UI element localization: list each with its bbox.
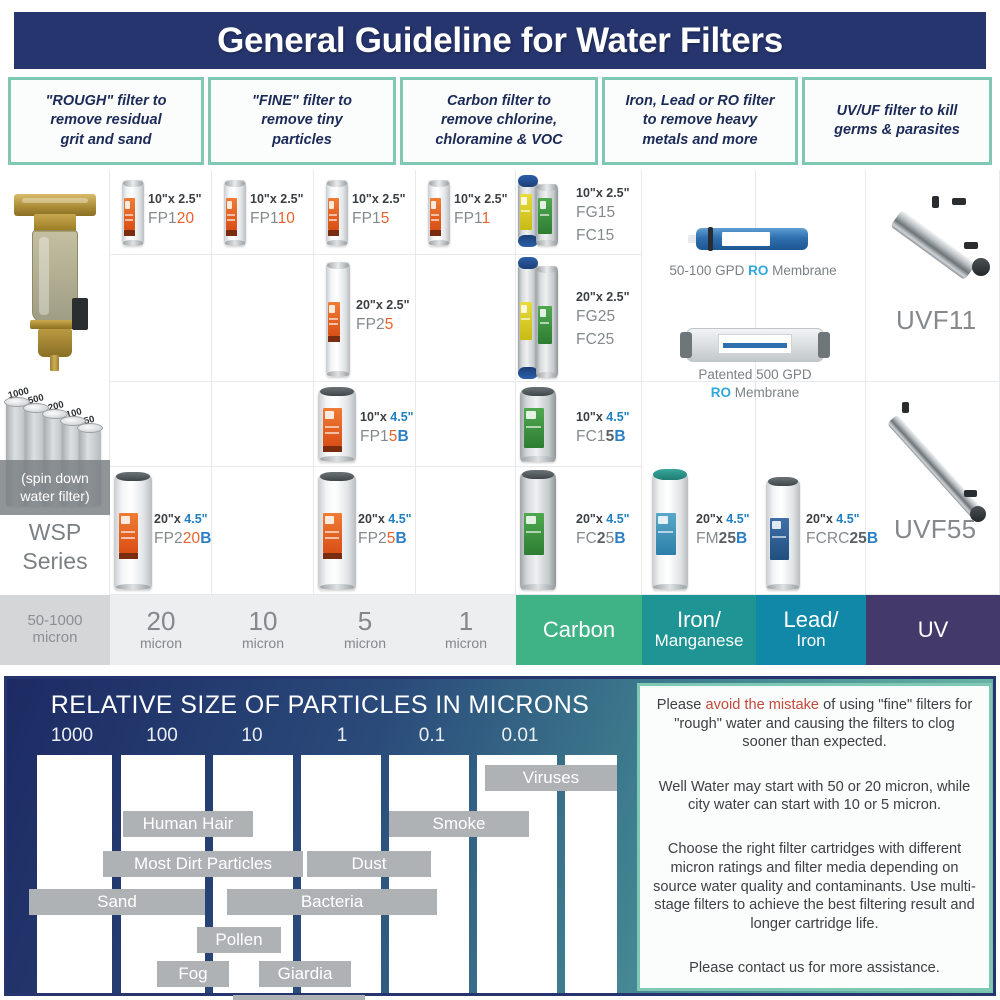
page-title-bar: General Guideline for Water Filters — [14, 12, 986, 69]
grid-cell-1micron-r4 — [416, 467, 516, 595]
particle-bar-fog: Fog — [157, 961, 229, 987]
cartridge-code: FCRC25B — [806, 528, 878, 550]
micron-value: 10 — [249, 608, 278, 635]
housing-spout — [50, 355, 59, 371]
grid-cell-10micron-r4 — [212, 467, 314, 595]
grid-cell-1micron-r2 — [416, 255, 516, 382]
uv-name-uvf55: UVF55 — [894, 514, 976, 545]
flush-valve — [72, 298, 88, 330]
particle-bar-viruses: Viruses — [485, 765, 617, 791]
micron-value: 50-1000 — [27, 613, 82, 629]
note-paragraph: Please avoid the mistake of using "fine"… — [652, 696, 977, 752]
micron-unit: micron — [344, 635, 386, 652]
infographic-page: General Guideline for Water Filters "ROU… — [0, 0, 1000, 1000]
cartridge-fp110-image — [224, 180, 246, 246]
header-box-iron-lead-ro: Iron, Lead or RO filter to remove heavy … — [602, 77, 798, 165]
cartridge-fc25b-image — [520, 473, 556, 590]
micron-cell-20: 20 micron — [110, 595, 212, 665]
particle-bar-giardia: Giardia — [259, 961, 351, 987]
cartridge-fp120-image — [122, 180, 144, 246]
tick-label: 0.01 — [483, 725, 557, 747]
uv-unit-uvf11-image — [890, 190, 990, 290]
spin-down-caption: (spin down water filter) — [0, 460, 110, 515]
cartridge-code: FP15B — [360, 426, 414, 448]
cartridge-code: FP15 — [352, 208, 406, 230]
cartridge-code: FM25B — [696, 528, 750, 550]
particle-bar-bacteria: Bacteria — [227, 889, 437, 915]
caption-line: water filter) — [20, 488, 89, 506]
label-fcrc25b: 20"x 4.5" FCRC25B — [806, 510, 878, 551]
cartridge-dimension: 20"x 2.5" — [576, 288, 630, 306]
label-fp15: 10"x 2.5" FP15 — [352, 190, 406, 231]
cartridge-code: FP25 — [356, 314, 410, 336]
micron-value: UV — [918, 618, 949, 641]
cartridge-fc15b-image — [520, 390, 556, 462]
cartridge-dimension: 10"x 2.5" — [250, 190, 304, 208]
label-fp25: 20"x 2.5" FP25 — [356, 296, 410, 337]
micron-cell-iron-manganese: Iron/ Manganese — [642, 595, 756, 665]
grid-cell-20micron-r3 — [110, 382, 212, 467]
label-fp220b: 20"x 4.5" FP220B — [154, 510, 211, 551]
micron-unit: micron — [242, 635, 284, 652]
grid-cell-10micron-r2 — [212, 255, 314, 382]
cartridge-dimension: 10"x 2.5" — [148, 190, 202, 208]
cartridge-dimension: 20"x 4.5" — [576, 510, 630, 528]
header-line: metals and more — [625, 131, 774, 150]
cartridge-fm25b-image — [652, 473, 688, 590]
particle-bar-pollen: Pollen — [197, 927, 281, 953]
cartridge-fc25-image — [536, 266, 558, 378]
label-carbon-r1: 10"x 2.5" FG15 FC15 — [576, 184, 630, 247]
cartridge-code: FC15B — [576, 426, 630, 448]
label-fp11: 10"x 2.5" FP11 — [454, 190, 508, 231]
label-fc25b: 20"x 4.5" FC25B — [576, 510, 630, 551]
cartridge-dimension: 20"x 4.5" — [696, 510, 750, 528]
micron-value: 20 — [147, 608, 176, 635]
cartridge-fp11-image — [428, 180, 450, 246]
cartridge-fg15-image — [518, 180, 538, 242]
micron-cell-1: 1 micron — [416, 595, 516, 665]
header-line: Carbon filter to — [435, 92, 562, 111]
cartridge-code: FC25 — [576, 329, 630, 351]
cartridge-dimension: 20"x 4.5" — [806, 510, 878, 528]
cartridge-fp15-image — [326, 180, 348, 246]
particle-bar-most-dirt: Most Dirt Particles — [103, 851, 303, 877]
product-grid: 1000 500 200 100 50 (spin down water fil… — [0, 170, 1000, 595]
cartridge-dimension: 10"x 2.5" — [454, 190, 508, 208]
micron-value: Iron/ — [677, 608, 721, 631]
header-box-fine: "FINE" filter to remove tiny particles — [208, 77, 396, 165]
cartridge-dimension: 10"x 2.5" — [576, 184, 630, 202]
tick-label: 0.1 — [395, 725, 469, 747]
cartridge-code: FC25B — [576, 528, 630, 550]
micron-unit: micron — [140, 635, 182, 652]
grid-cell-20micron-r2 — [110, 255, 212, 382]
cartridge-dimension: 20"x 4.5" — [154, 510, 211, 528]
cartridge-code: FG15 — [576, 202, 630, 224]
cartridge-fp220b-image — [114, 475, 152, 590]
caption-line: RO Membrane — [660, 384, 850, 402]
cartridge-code: FP220B — [154, 528, 211, 550]
caption-ro-500gpd: Patented 500 GPD RO Membrane — [660, 366, 850, 402]
micron-footer-row: 50-1000 micron 20 micron 10 micron 5 mic… — [0, 595, 1000, 665]
ro-membrane-500gpd-image — [680, 328, 830, 362]
cartridge-dimension: 20"x 2.5" — [356, 296, 410, 314]
header-line: "FINE" filter to — [252, 92, 352, 111]
chart-title: RELATIVE SIZE OF PARTICLES IN MICRONS — [15, 691, 625, 720]
label-fp120: 10"x 2.5" FP120 — [148, 190, 202, 231]
caption-line: (spin down — [21, 470, 89, 488]
spin-down-housing-image — [12, 184, 98, 374]
tick-label: 1 — [305, 725, 379, 747]
cartridge-code: FP11 — [454, 208, 508, 230]
header-line: "ROUGH" filter to — [46, 92, 167, 111]
cartridge-dimension: 10"x 4.5" — [360, 408, 414, 426]
cartridge-fc15-image — [536, 184, 558, 246]
tick-label: 10 — [215, 725, 289, 747]
chart-scale-ticks: 1000 100 10 1 0.1 0.01 — [15, 725, 625, 753]
header-line: remove residual — [46, 111, 167, 130]
cartridge-fp15b-image — [318, 390, 356, 462]
particle-bar-sand: Sand — [29, 889, 205, 915]
cartridge-fg25-image — [518, 262, 538, 374]
tick-label: 100 — [125, 725, 199, 747]
particle-bar-parasite: Parasite — [233, 995, 365, 1000]
label-fc15b: 10"x 4.5" FC15B — [576, 408, 630, 449]
micron-value: 1 — [459, 608, 473, 635]
micron-unit: micron — [32, 629, 77, 647]
micron-unit: micron — [445, 635, 487, 652]
ro-membrane-50-100gpd-image — [688, 228, 808, 250]
cartridge-code: FP120 — [148, 208, 202, 230]
header-line: remove tiny — [252, 111, 352, 130]
micron-cell-5: 5 micron — [314, 595, 416, 665]
cartridge-fcrc25b-image — [766, 480, 800, 590]
header-box-uv: UV/UF filter to kill germs & parasites — [802, 77, 992, 165]
micron-cell-carbon: Carbon — [516, 595, 642, 665]
cartridge-dimension: 10"x 4.5" — [576, 408, 630, 426]
wsp-line: Series — [0, 547, 110, 576]
micron-cell-uv: UV — [866, 595, 1000, 665]
chart-decade-col — [37, 755, 112, 993]
label-fp110: 10"x 2.5" FP110 — [250, 190, 304, 231]
header-line: UV/UF filter to kill — [834, 102, 960, 121]
label-fp15b: 10"x 4.5" FP15B — [360, 408, 414, 449]
micron-cell-10: 10 micron — [212, 595, 314, 665]
caption-ro-50-100gpd: 50-100 GPD RO Membrane — [648, 262, 858, 280]
housing-top-bar — [14, 194, 96, 216]
label-carbon-r2: 20"x 2.5" FG25 FC25 — [576, 288, 630, 351]
micron-cell-lead-iron: Lead/ Iron — [756, 595, 866, 665]
micron-value: Carbon — [543, 618, 615, 641]
housing-base — [38, 329, 72, 357]
header-line: grit and sand — [46, 131, 167, 150]
screen-lid — [77, 423, 103, 433]
label-fm25b: 20"x 4.5" FM25B — [696, 510, 750, 551]
cartridge-dimension: 10"x 2.5" — [352, 190, 406, 208]
page-title: General Guideline for Water Filters — [217, 21, 783, 61]
caption-line: Patented 500 GPD — [660, 366, 850, 384]
cartridge-code: FP110 — [250, 208, 304, 230]
grid-cell-10micron-r3 — [212, 382, 314, 467]
header-line: Iron, Lead or RO filter — [625, 92, 774, 111]
cartridge-fp25b-image — [318, 475, 356, 590]
micron-unit: Manganese — [655, 631, 744, 651]
cartridge-fp25-image — [326, 262, 350, 377]
note-paragraph: Please contact us for more assistance. — [652, 959, 977, 978]
cartridge-code: FP25B — [358, 528, 412, 550]
grid-cell-1micron-r3 — [416, 382, 516, 467]
header-line: chloramine & VOC — [435, 131, 562, 150]
header-box-carbon: Carbon filter to remove chlorine, chlora… — [400, 77, 598, 165]
note-paragraph: Well Water may start with 50 or 20 micro… — [652, 778, 977, 815]
particle-size-panel: RELATIVE SIZE OF PARTICLES IN MICRONS 10… — [4, 676, 996, 996]
header-box-row: "ROUGH" filter to remove residual grit a… — [0, 77, 1000, 165]
header-line: to remove heavy — [625, 111, 774, 130]
particle-chart-area: Viruses Smoke Human Hair Most Dirt Parti… — [37, 755, 617, 993]
particle-bar-smoke: Smoke — [389, 811, 529, 837]
micron-unit: Iron — [796, 631, 825, 651]
micron-cell-50-1000: 50-1000 micron — [0, 595, 110, 665]
cartridge-code: FG25 — [576, 306, 630, 328]
tick-label: 1000 — [35, 725, 109, 747]
cartridge-dimension: 20"x 4.5" — [358, 510, 412, 528]
wsp-series-label: WSP Series — [0, 518, 110, 576]
wsp-line: WSP — [0, 518, 110, 547]
header-line: remove chlorine, — [435, 111, 562, 130]
header-line: particles — [252, 131, 352, 150]
guidance-notes-panel: Please avoid the mistake of using "fine"… — [637, 683, 992, 991]
header-box-rough: "ROUGH" filter to remove residual grit a… — [8, 77, 204, 165]
particle-bar-dust: Dust — [307, 851, 431, 877]
label-fp25b: 20"x 4.5" FP25B — [358, 510, 412, 551]
note-paragraph: Choose the right filter cartridges with … — [652, 840, 977, 933]
micron-value: Lead/ — [783, 608, 838, 631]
cartridge-code: FC15 — [576, 225, 630, 247]
header-line: germs & parasites — [834, 121, 960, 140]
uv-name-uvf11: UVF11 — [896, 305, 977, 336]
particle-bar-human-hair: Human Hair — [123, 811, 253, 837]
micron-value: 5 — [358, 608, 372, 635]
